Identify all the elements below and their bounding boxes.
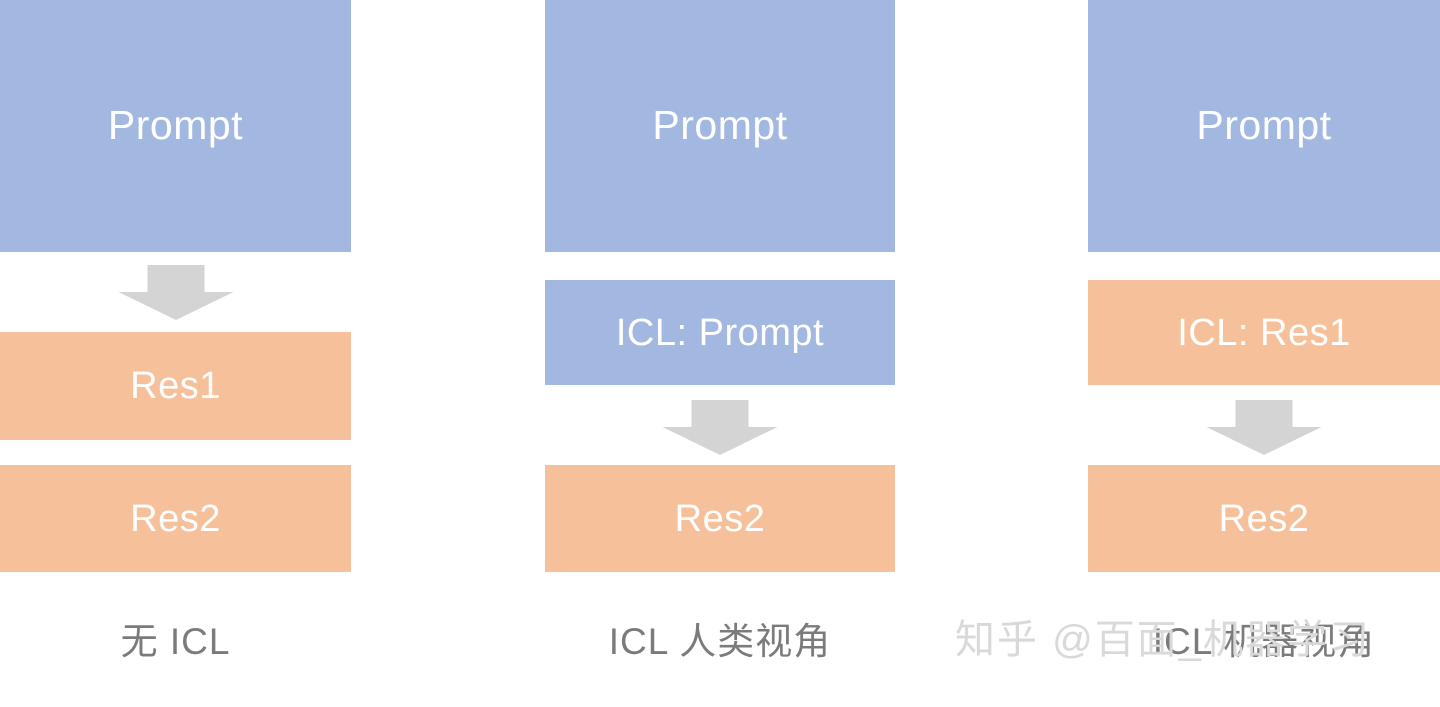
box-res2: Res2 [545,465,895,572]
box-label-prompt: Prompt [652,105,787,146]
column-no-icl: Prompt Res1 Res2 无 ICL [0,0,351,707]
arrow-down-icon [648,400,793,455]
arrow-down-icon [103,265,248,320]
arrow-down-icon [1192,400,1337,455]
column-caption-icl-machine-view: ICL 机器视角 [1088,622,1440,663]
box-label-icl-res1: ICL: Res1 [1177,314,1350,352]
box-label-res2: Res2 [1219,500,1310,538]
column-icl-human-view: Prompt ICL: Prompt Res2 ICL 人类视角 [545,0,895,707]
box-icl-res1: ICL: Res1 [1088,280,1440,385]
box-res1: Res1 [0,332,351,440]
box-label-res1: Res1 [130,367,221,405]
box-label-res2: Res2 [675,500,766,538]
diagram-canvas: Prompt Res1 Res2 无 ICL Prompt ICL: Promp… [0,0,1440,707]
box-label-prompt: Prompt [108,105,243,146]
box-label-res2: Res2 [130,500,221,538]
column-icl-machine-view: Prompt ICL: Res1 Res2 ICL 机器视角 [1088,0,1440,707]
column-caption-icl-human-view: ICL 人类视角 [545,622,895,663]
box-res2: Res2 [1088,465,1440,572]
box-label-prompt: Prompt [1196,105,1331,146]
box-prompt: Prompt [1088,0,1440,252]
box-icl-prompt: ICL: Prompt [545,280,895,385]
box-res2: Res2 [0,465,351,572]
box-prompt: Prompt [545,0,895,252]
column-caption-no-icl: 无 ICL [0,622,351,663]
box-label-icl-prompt: ICL: Prompt [616,314,824,352]
box-prompt: Prompt [0,0,351,252]
